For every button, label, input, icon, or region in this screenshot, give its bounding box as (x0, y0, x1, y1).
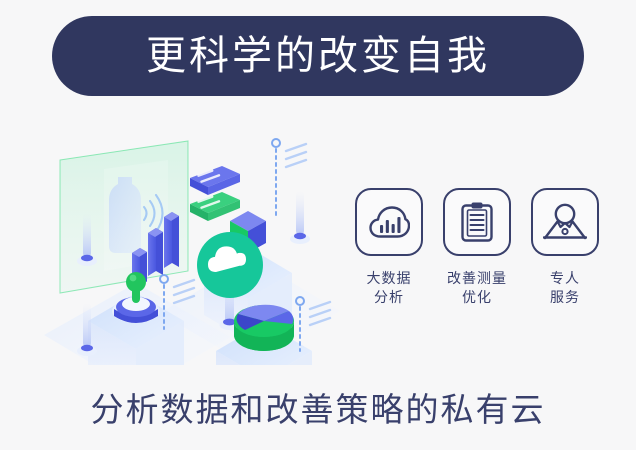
title-banner: 更科学的改变自我 (52, 16, 584, 96)
promo-banner: 更科学的改变自我 (0, 0, 636, 450)
feature-label: 改善测量 优化 (447, 269, 507, 307)
feature-list: 大数据 分析 改善测量 优化 (352, 188, 602, 328)
feature-item-measurement[interactable]: 改善测量 优化 (440, 188, 514, 307)
blue-label-badge (190, 166, 240, 195)
feature-label: 专人 服务 (550, 269, 580, 307)
cloud-bar-chart-icon (355, 188, 423, 256)
green-label-badge (190, 192, 240, 221)
feature-label: 大数据 分析 (367, 269, 412, 307)
clipboard-checklist-icon (443, 188, 511, 256)
feature-item-big-data[interactable]: 大数据 分析 (352, 188, 426, 307)
feature-item-support[interactable]: 专人 服务 (528, 188, 602, 307)
bottle-silhouette (109, 177, 141, 253)
isometric-pie-chart (234, 305, 294, 351)
illustration (40, 125, 340, 365)
page-title: 更科学的改变自我 (146, 36, 490, 76)
pin-right (290, 191, 310, 244)
footer-tagline: 分析数据和改善策略的私有云 (0, 383, 636, 431)
support-agent-icon (531, 188, 599, 256)
